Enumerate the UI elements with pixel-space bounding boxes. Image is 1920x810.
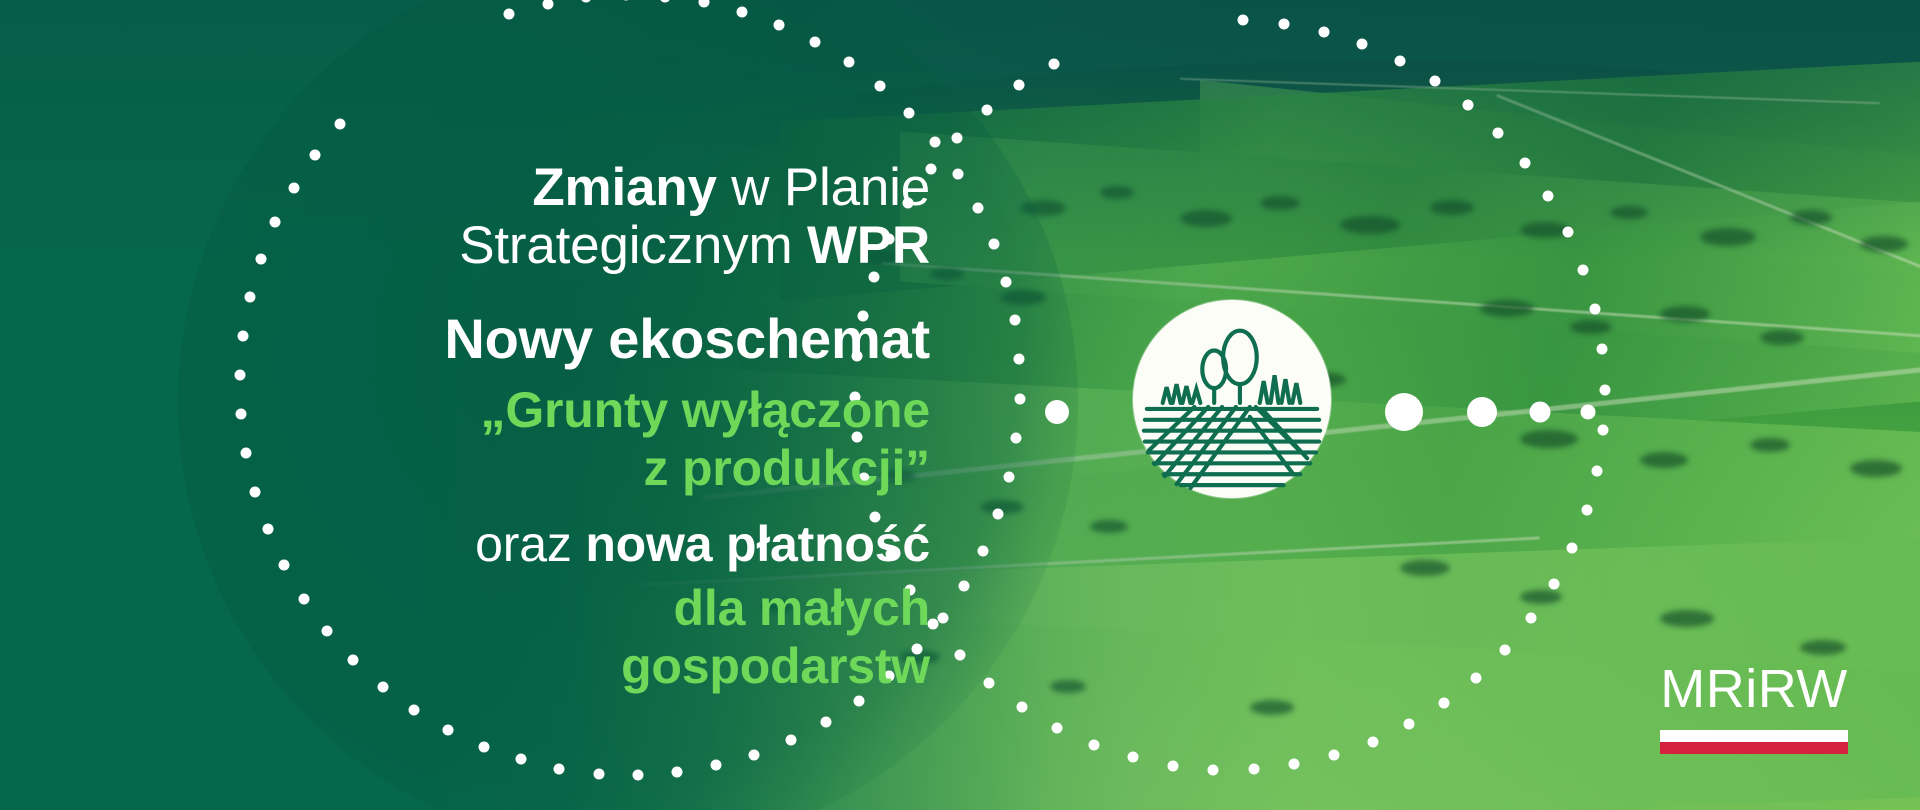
- row-dot: [1530, 402, 1551, 423]
- subhead-line-1: Nowy ekoschemat: [444, 310, 930, 369]
- polish-flag-icon: [1660, 730, 1848, 754]
- headline-light: Strategicznym: [459, 216, 807, 275]
- headline-wpr: WPR: [807, 216, 930, 275]
- row-dot: [1467, 397, 1497, 427]
- row-dot: [1385, 393, 1423, 431]
- headline-line-1: Zmiany w Planie: [532, 160, 930, 216]
- headline-emphasis: Zmiany: [532, 158, 716, 217]
- headline-line-2: Strategicznym WPR: [459, 218, 930, 274]
- tagline-line-2: dla małych: [674, 582, 930, 635]
- subhead-line-2: „Grunty wyłączone: [481, 384, 930, 437]
- field-trees-emblem-icon: [1133, 300, 1331, 498]
- subhead-line-3: z produkcji”: [643, 442, 930, 495]
- row-dot: [1045, 400, 1069, 424]
- mrirw-logo: MRiRW: [1660, 662, 1848, 754]
- flag-stripe-red: [1660, 742, 1848, 754]
- headline-rest: w Planie: [717, 158, 930, 217]
- tagline-emphasis: nowa płatność: [585, 516, 930, 572]
- row-dot: [1581, 405, 1596, 420]
- tagline-line-3: gospodarstw: [621, 640, 930, 693]
- tagline-light: oraz: [475, 516, 585, 572]
- campaign-banner: Zmiany w Planie Strategicznym WPR Nowy e…: [0, 0, 1920, 810]
- mrirw-logo-text: MRiRW: [1660, 662, 1848, 716]
- flag-stripe-white: [1660, 730, 1848, 742]
- green-overlay-top: [0, 0, 1920, 810]
- tagline-line-1: oraz nowa płatność: [475, 518, 930, 571]
